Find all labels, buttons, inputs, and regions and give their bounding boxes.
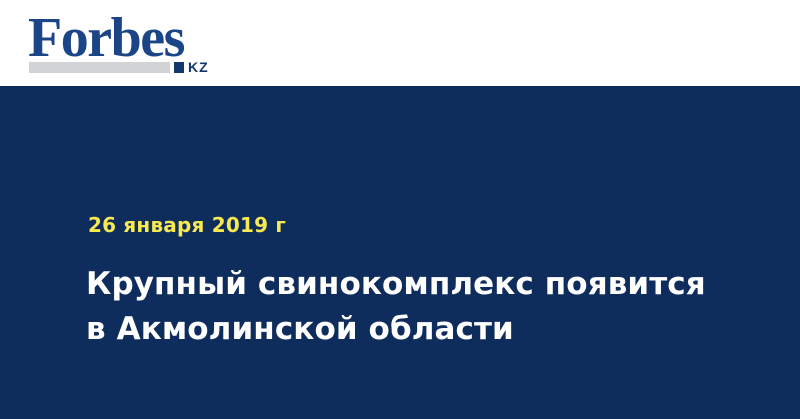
article-hero: 26 января 2019 г Крупный свинокомплекс п…	[0, 86, 800, 419]
article-title-line-2: в Акмолинской области	[86, 307, 746, 352]
logo-locale-label: KZ	[188, 60, 209, 74]
article-hero-page: Forbes KZ 26 января 2019 г Крупный свино…	[0, 0, 800, 419]
site-header: Forbes KZ	[0, 0, 800, 86]
forbes-wordmark: Forbes	[28, 10, 184, 66]
article-date: 26 января 2019 г	[88, 213, 286, 237]
square-marker-icon	[174, 62, 184, 73]
article-title: Крупный свинокомплекс появится в Акмолин…	[86, 262, 746, 352]
article-title-line-1: Крупный свинокомплекс появится	[86, 262, 746, 307]
forbes-kz-logo[interactable]: Forbes KZ	[28, 12, 248, 78]
gray-rule-icon	[29, 62, 170, 73]
